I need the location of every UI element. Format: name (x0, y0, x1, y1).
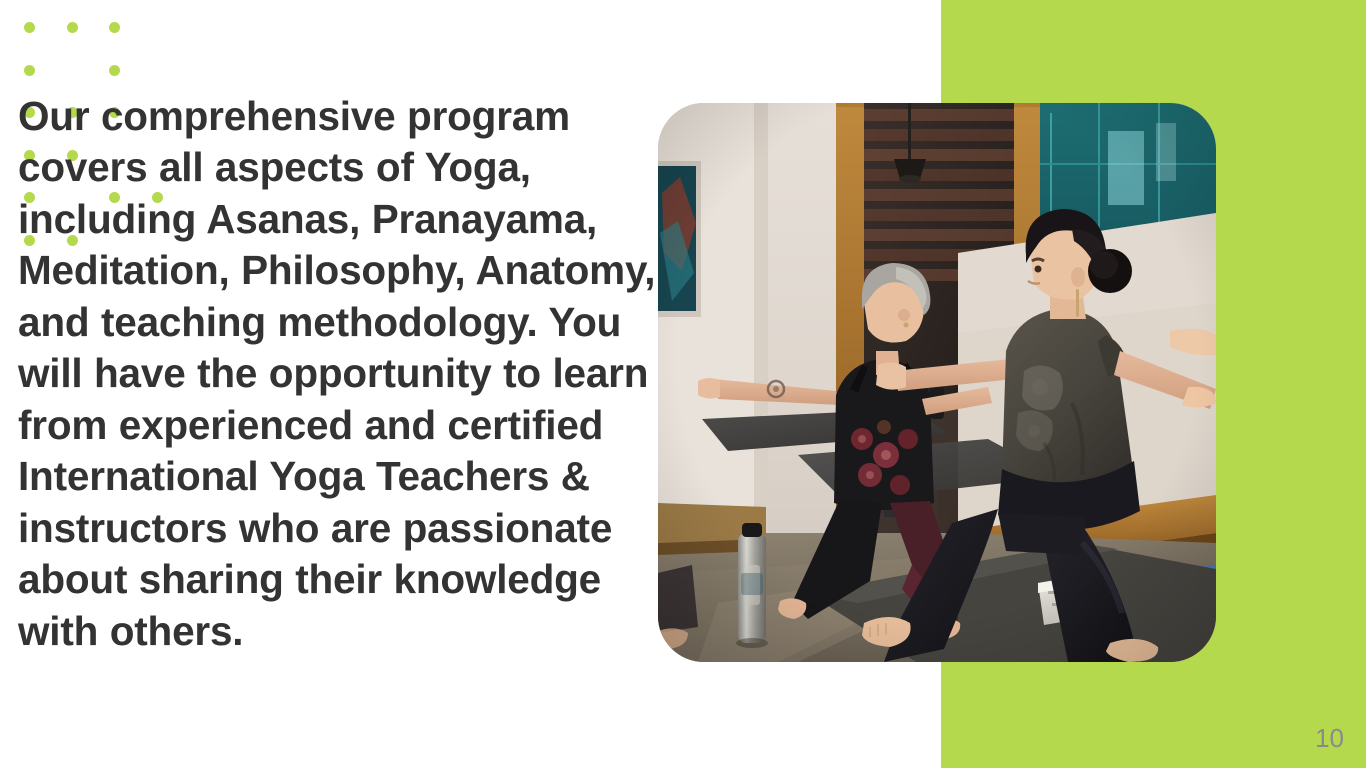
dot (67, 65, 78, 76)
dot (24, 65, 35, 76)
dot (24, 22, 35, 33)
slide-body-text: Our comprehensive program covers all asp… (18, 91, 658, 658)
dot (109, 65, 120, 76)
yoga-class-photo (658, 103, 1216, 662)
slide-canvas: Our comprehensive program covers all asp… (0, 0, 1366, 768)
dot (152, 22, 163, 33)
yoga-class-photo-illustration (658, 103, 1216, 662)
page-number: 10 (1315, 723, 1344, 754)
dot (109, 22, 120, 33)
dot (152, 65, 163, 76)
dot (67, 22, 78, 33)
